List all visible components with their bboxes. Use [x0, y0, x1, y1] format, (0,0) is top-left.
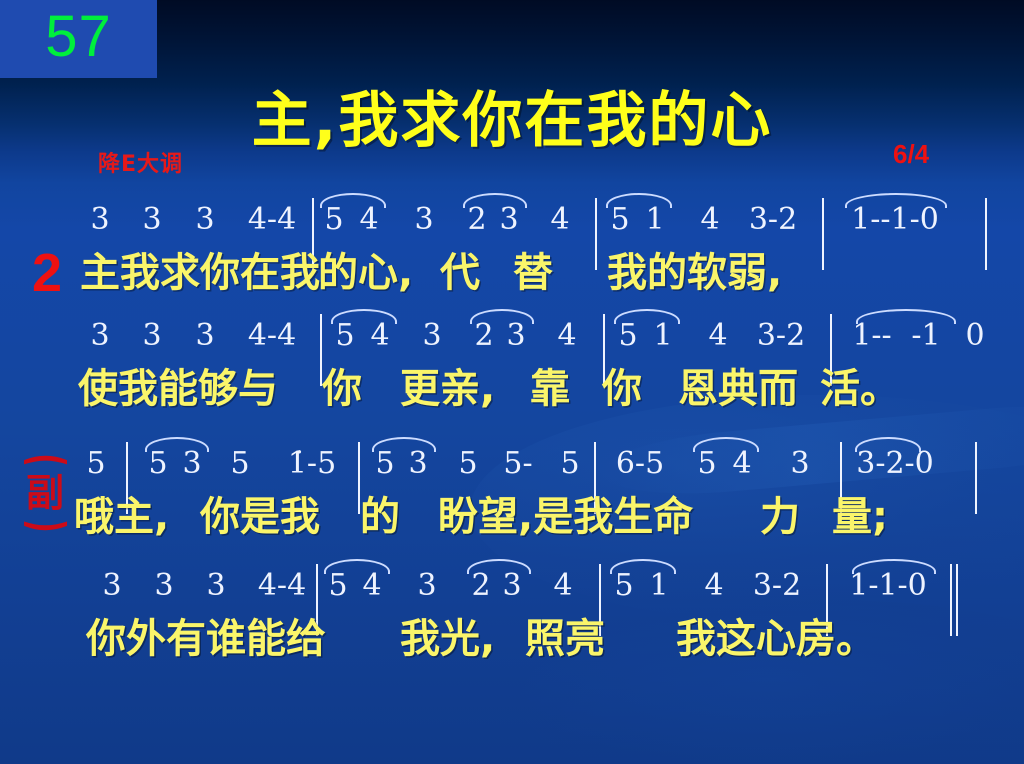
lyric-segment: 靠 — [530, 360, 570, 418]
note-group: 5 — [230, 440, 249, 488]
lyric-segment: 活。 — [820, 360, 900, 418]
lyric-segment: 盼望,是我生命 — [438, 488, 693, 546]
lyrics-row: 你外有谁能给我光,照亮我这心房。 — [0, 610, 1024, 670]
note-group: 5- — [503, 440, 532, 488]
lyric-segment: 我光, — [400, 610, 495, 668]
note-group: 3 — [102, 562, 121, 610]
lyric-segment: 的 — [360, 488, 400, 546]
note-group: 4 — [700, 196, 719, 244]
notation-row: 3334-45432345143-21--1-0 — [0, 196, 1024, 244]
notation-row: 3334-45432345143-21-1-0 — [0, 562, 1024, 610]
music-system-1: 3334-45432345143-21--1-0 主我求你在我的心,代替我的软弱… — [0, 196, 1024, 304]
note-group: 4 — [708, 312, 727, 360]
note-group: 3-2 — [757, 312, 805, 360]
lyrics-row: 主我求你在我的心,代替我的软弱, — [0, 244, 1024, 304]
note-group: 3 — [142, 196, 161, 244]
notation-row: 55351̇-55355-56-55433-2-0 — [0, 440, 1024, 488]
note-group: 3 — [195, 196, 214, 244]
lyric-segment: 哦主, — [74, 488, 169, 546]
note-group: 1̇-5 — [288, 440, 336, 488]
note-group: 3 — [90, 312, 109, 360]
note-group: 4-4 — [248, 312, 296, 360]
lyric-segment: 你 — [322, 360, 362, 418]
note-group: 4 — [550, 196, 569, 244]
lyrics-row: 哦主,你是我的盼望,是我生命力量; — [0, 488, 1024, 548]
lyric-segment: 你外有谁能给 — [86, 610, 326, 668]
note-group: 3 — [422, 312, 441, 360]
note-group: 3 — [142, 312, 161, 360]
lyric-segment: 代 — [440, 244, 480, 302]
lyric-segment: 更亲, — [400, 360, 495, 418]
time-signature-label: 6/4 — [893, 139, 929, 170]
lyric-segment: 恩典而 — [678, 360, 798, 418]
lyric-segment: 的心, — [318, 244, 413, 302]
lyric-segment: 量; — [832, 488, 888, 546]
note-group: 4 — [704, 562, 723, 610]
lyric-segment: 照亮 — [525, 610, 605, 668]
note-group: 6-5 — [616, 440, 664, 488]
note-group: 0 — [965, 312, 984, 360]
lyric-segment: 你 — [602, 360, 642, 418]
music-system-2: 3334-45432345143-21---10 使我能够与你更亲,靠你恩典而活… — [0, 312, 1024, 420]
lyric-segment: 使我能够与 — [78, 360, 278, 418]
music-system-3: 55351̇-55355-56-55433-2-0 哦主,你是我的盼望,是我生命… — [0, 440, 1024, 548]
slide-canvas: 57 主,我求你在我的心 降E大调 6/4 2 ( 副 ) 3334-45432… — [0, 0, 1024, 764]
note-group: 5 — [86, 440, 105, 488]
note-group: 4 — [553, 562, 572, 610]
note-group: 3 — [417, 562, 436, 610]
note-group: 4-4 — [248, 196, 296, 244]
note-group: 3-2 — [753, 562, 801, 610]
lyric-segment: 你是我 — [200, 488, 320, 546]
lyric-segment: 主我求你在我 — [80, 244, 320, 302]
lyrics-row: 使我能够与你更亲,靠你恩典而活。 — [0, 360, 1024, 420]
note-group: 3 — [90, 196, 109, 244]
lyric-segment: 我这心房。 — [676, 610, 876, 668]
note-group: 3 — [195, 312, 214, 360]
lyric-segment: 力 — [760, 488, 800, 546]
notation-row: 3334-45432345143-21---10 — [0, 312, 1024, 360]
note-group: 4 — [557, 312, 576, 360]
note-group: 3 — [206, 562, 225, 610]
note-group: 5 — [560, 440, 579, 488]
note-group: 3-2 — [749, 196, 797, 244]
hymn-number: 57 — [45, 8, 112, 70]
note-group: 3 — [154, 562, 173, 610]
note-group: 4-4 — [258, 562, 306, 610]
music-system-4: 3334-45432345143-21-1-0 你外有谁能给我光,照亮我这心房。 — [0, 562, 1024, 670]
lyric-segment: 替 — [513, 244, 553, 302]
note-group: 3 — [790, 440, 809, 488]
note-group: 3 — [414, 196, 433, 244]
note-group: 5 — [458, 440, 477, 488]
hymn-number-badge: 57 — [0, 0, 157, 78]
lyric-segment: 我的软弱, — [607, 244, 782, 302]
key-signature-label: 降E大调 — [98, 146, 183, 178]
